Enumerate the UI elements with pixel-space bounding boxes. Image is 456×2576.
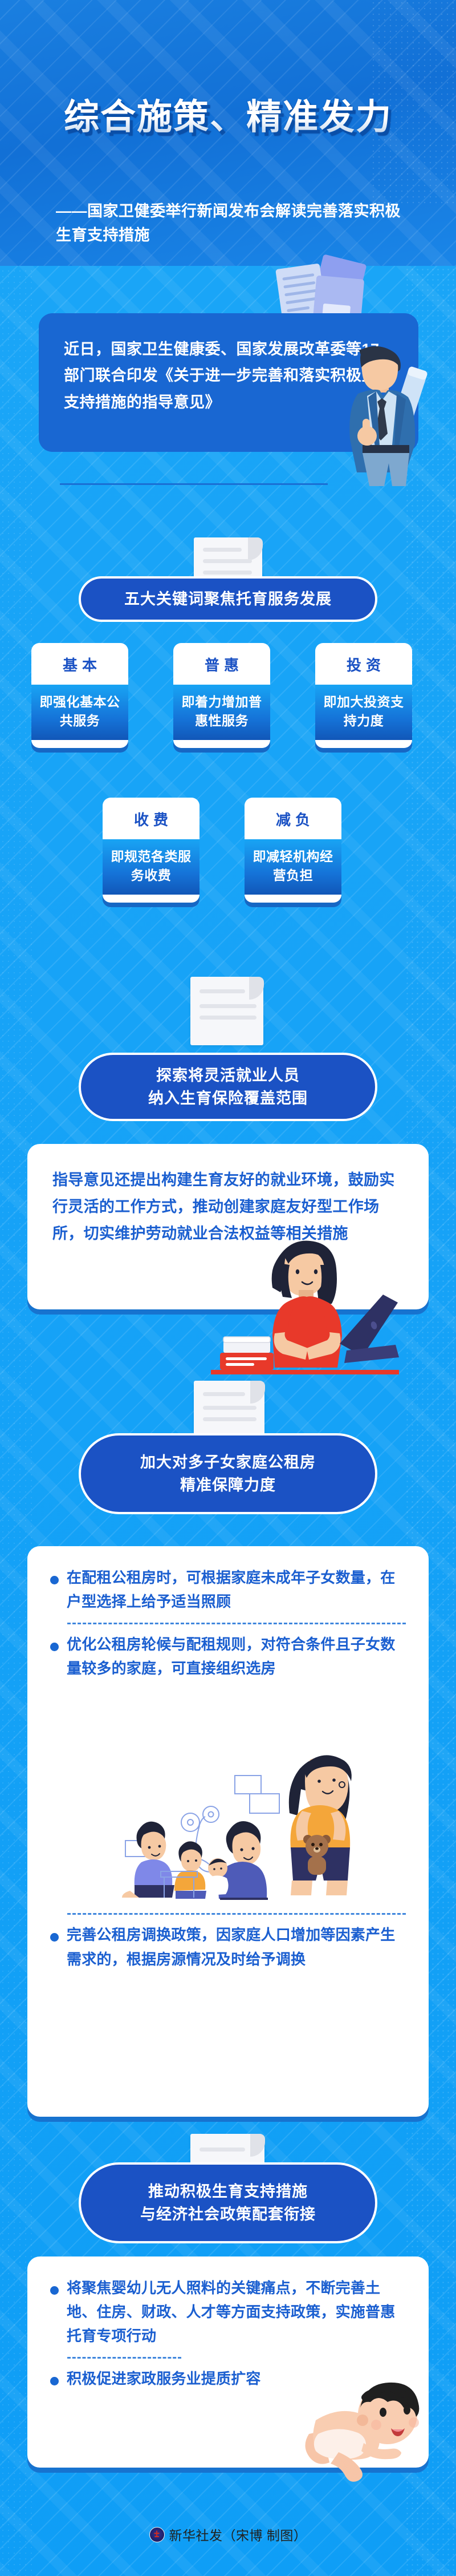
crawling-baby-illustration bbox=[296, 2379, 427, 2485]
section-heading-1: 五大关键词聚焦托育服务发展 bbox=[79, 576, 377, 622]
section-heading-3: 加大对多子女家庭公租房 精准保障力度 bbox=[79, 1433, 377, 1514]
list-item: 完善公租房调换政策，因家庭人口增加等因素产生需求的，根据房源情况及时给予调换 bbox=[50, 1923, 406, 1971]
section-heading-1-text: 五大关键词聚焦托育服务发展 bbox=[109, 588, 347, 611]
dashed-separator bbox=[67, 1913, 406, 1915]
keyword-card-3-title: 投资 bbox=[315, 643, 412, 685]
section-heading-4-line2: 与经济社会政策配套衔接 bbox=[125, 2203, 331, 2226]
section-heading-3-line2: 精准保障力度 bbox=[165, 1474, 291, 1497]
list-item: 将聚焦婴幼儿无人照料的关键痛点，不断完善土地、住房、财政、人才等方面支持政策，实… bbox=[50, 2276, 406, 2348]
keyword-card-3-foot bbox=[315, 740, 412, 748]
section-heading-3-line1: 加大对多子女家庭公租房 bbox=[125, 1451, 331, 1474]
keyword-card-2-desc: 即着力增加普惠性服务 bbox=[173, 685, 270, 740]
bullet-dot-icon bbox=[50, 1643, 59, 1651]
keyword-card-4-foot bbox=[103, 895, 199, 903]
keyword-card-1-desc: 即强化基本公共服务 bbox=[31, 685, 128, 740]
keyword-card-1: 基本 即强化基本公共服务 bbox=[31, 643, 128, 748]
document-icon-2 bbox=[190, 977, 263, 1045]
keyword-card-2: 普惠 即着力增加普惠性服务 bbox=[173, 643, 270, 748]
bullet-dot-icon bbox=[50, 1576, 59, 1584]
xinhua-logo-icon bbox=[149, 2527, 165, 2542]
keyword-card-5-title: 减负 bbox=[245, 798, 341, 839]
list-item: 优化公租房轮候与配租规则，对符合条件且子女数量较多的家庭，可直接组织选房 bbox=[50, 1632, 406, 1680]
keyword-card-2-title: 普惠 bbox=[173, 643, 270, 685]
section3-bullet-1: 在配租公租房时，可根据家庭未成年子女数量，在户型选择上给予适当照顾 bbox=[67, 1566, 406, 1613]
keyword-card-2-foot bbox=[173, 740, 270, 748]
woman-with-laptop-illustration bbox=[211, 1230, 399, 1386]
bullet-dot-icon bbox=[50, 2286, 59, 2295]
keyword-card-5: 减负 即减轻机构经营负担 bbox=[245, 798, 341, 903]
bullet-dot-icon bbox=[50, 1933, 59, 1942]
section-heading-2: 探索将灵活就业人员 纳入生育保险覆盖范围 bbox=[79, 1053, 377, 1121]
dashed-separator bbox=[67, 1623, 406, 1624]
keyword-card-4: 收费 即规范各类服务收费 bbox=[103, 798, 199, 903]
dashed-separator bbox=[67, 2357, 181, 2359]
keyword-card-1-title: 基本 bbox=[31, 643, 128, 685]
keyword-card-1-foot bbox=[31, 740, 128, 748]
footer-credit: 新华社发（宋博 制图） bbox=[0, 2525, 456, 2544]
footer-credit-text: 新华社发（宋博 制图） bbox=[169, 2525, 307, 2544]
bullet-dot-icon bbox=[50, 2377, 59, 2385]
family-illustration bbox=[68, 1729, 393, 1903]
page-title: 综合施策、精准发力 bbox=[0, 98, 456, 137]
keyword-card-5-desc: 即减轻机构经营负担 bbox=[245, 839, 341, 895]
keyword-card-5-foot bbox=[245, 895, 341, 903]
keyword-card-4-title: 收费 bbox=[103, 798, 199, 839]
section-heading-2-line2: 纳入生育保险覆盖范围 bbox=[133, 1087, 323, 1110]
keyword-card-4-desc: 即规范各类服务收费 bbox=[103, 839, 199, 895]
page-subtitle: ——国家卫健委举行新闻发布会解读完善落实积极生育支持措施 bbox=[56, 200, 409, 248]
intro-divider bbox=[60, 483, 328, 485]
keyword-card-3: 投资 即加大投资支持力度 bbox=[315, 643, 412, 748]
infographic-poster: 综合施策、精准发力 ——国家卫健委举行新闻发布会解读完善落实积极生育支持措施 bbox=[0, 0, 456, 2576]
section-heading-4-line1: 推动积极生育支持措施 bbox=[133, 2180, 323, 2203]
section3-bullet-3: 完善公租房调换政策，因家庭人口增加等因素产生需求的，根据房源情况及时给予调换 bbox=[67, 1923, 406, 1971]
keyword-card-3-desc: 即加大投资支持力度 bbox=[315, 685, 412, 740]
section-heading-2-line1: 探索将灵活就业人员 bbox=[141, 1064, 315, 1087]
list-item: 在配租公租房时，可根据家庭未成年子女数量，在户型选择上给予适当照顾 bbox=[50, 1566, 406, 1613]
section4-bullet-2: 积极促进家政服务业提质扩容 bbox=[67, 2367, 261, 2391]
section3-bullet-2: 优化公租房轮候与配租规则，对符合条件且子女数量较多的家庭，可直接组织选房 bbox=[67, 1632, 406, 1680]
section4-bullet-1: 将聚焦婴幼儿无人照料的关键痛点，不断完善土地、住房、财政、人才等方面支持政策，实… bbox=[67, 2276, 406, 2348]
businessman-illustration bbox=[342, 339, 439, 490]
section-heading-4: 推动积极生育支持措施 与经济社会政策配套衔接 bbox=[79, 2162, 377, 2243]
